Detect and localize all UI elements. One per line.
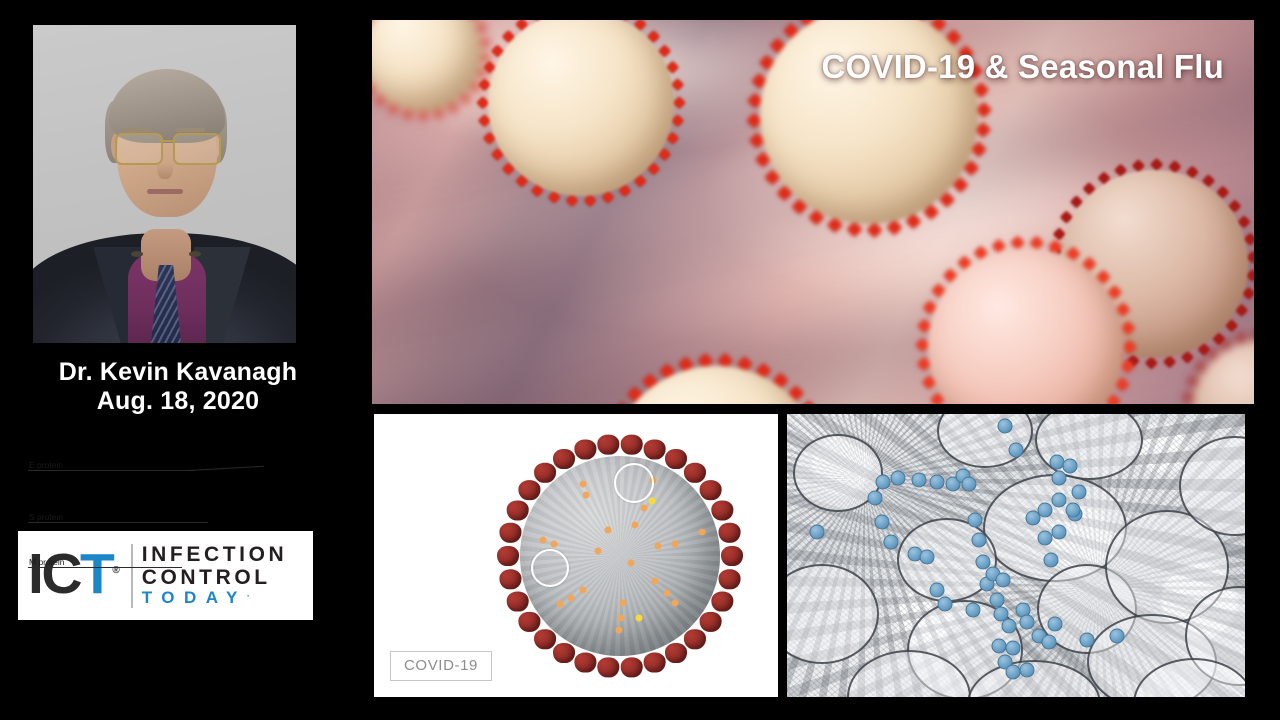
virion-particle xyxy=(1038,531,1053,546)
m-protein-marker xyxy=(539,536,546,543)
e-protein-marker xyxy=(649,498,656,505)
portrait-eyebrow-right xyxy=(175,128,205,132)
virion-particle xyxy=(875,515,890,530)
speaker-date: Aug. 18, 2020 xyxy=(0,387,356,416)
covid-structure-diagram-panel: COVID-19 xyxy=(374,414,778,697)
virion-particle xyxy=(1038,503,1053,518)
portrait-mouth xyxy=(147,189,183,194)
portrait-eye-right xyxy=(189,251,201,257)
m-protein-marker xyxy=(654,543,661,550)
virion-particle xyxy=(1066,503,1081,518)
m-protein-marker xyxy=(663,589,670,596)
virion-particle xyxy=(930,475,945,490)
m-protein-marker xyxy=(618,615,625,622)
portrait-eyeglasses xyxy=(113,133,221,163)
m-protein-marker xyxy=(604,526,611,533)
logo-text-today: TODAY. xyxy=(142,589,288,607)
virus-particle xyxy=(608,366,824,404)
virion-particle xyxy=(1020,663,1035,678)
logo-divider xyxy=(131,544,133,608)
logo-text-control: CONTROL xyxy=(142,567,288,589)
callout-circle-m-protein xyxy=(531,549,569,587)
logo-today-mark: . xyxy=(247,589,250,599)
slide-title: COVID-19 & Seasonal Flu xyxy=(821,48,1224,86)
e-protein-marker xyxy=(636,615,643,622)
logo-wordmark-stack: INFECTION CONTROL TODAY. xyxy=(142,544,288,607)
diagram-caption: COVID-19 xyxy=(390,651,492,681)
virion-particle xyxy=(996,573,1011,588)
m-protein-marker xyxy=(557,600,564,607)
virion-particle xyxy=(1048,617,1063,632)
m-protein-marker xyxy=(698,529,705,536)
virion-particle xyxy=(972,533,987,548)
virion-particle xyxy=(868,491,883,506)
virion-particle xyxy=(930,583,945,598)
leader-line-m xyxy=(86,567,182,568)
virion-particle xyxy=(938,597,953,612)
virion-particle xyxy=(1020,615,1035,630)
virion-particle xyxy=(1052,525,1067,540)
m-protein-marker xyxy=(579,481,586,488)
virion-particle xyxy=(962,477,977,492)
label-underline-s xyxy=(28,522,84,523)
virion-particle xyxy=(992,639,1007,654)
virion-particle xyxy=(884,535,899,550)
virion-particle xyxy=(912,473,927,488)
speaker-name: Dr. Kevin Kavanagh xyxy=(0,358,356,387)
eyeglass-lens-right xyxy=(173,133,221,165)
hero-virus-image: COVID-19 & Seasonal Flu xyxy=(372,20,1254,404)
virion-particle xyxy=(966,603,981,618)
virus-particle xyxy=(372,20,482,112)
slide-canvas: Dr. Kevin Kavanagh Aug. 18, 2020 ICT® IN… xyxy=(0,0,1280,720)
logo-text-infection: INFECTION xyxy=(142,544,288,566)
virion-particle xyxy=(1080,633,1095,648)
leader-line-e xyxy=(84,470,194,471)
m-protein-marker xyxy=(616,627,623,634)
virus-particle xyxy=(488,20,674,196)
m-protein-marker xyxy=(595,547,602,554)
callout-circle-e-protein xyxy=(614,463,654,503)
sars-cov-2-illustration xyxy=(484,420,756,692)
left-column: Dr. Kevin Kavanagh Aug. 18, 2020 ICT® IN… xyxy=(0,0,356,720)
virion-particle xyxy=(920,550,935,565)
ict-logo: ICT® INFECTION CONTROL TODAY. xyxy=(18,531,313,620)
m-protein-marker xyxy=(627,560,634,567)
virion-particle xyxy=(1002,619,1017,634)
logo-text-t: T xyxy=(80,542,112,606)
virion-particle xyxy=(1006,641,1021,656)
m-protein-marker xyxy=(550,541,557,548)
eyeglass-bridge xyxy=(159,140,175,142)
virion-particle xyxy=(810,525,825,540)
label-underline-e xyxy=(28,470,84,471)
virion-particle xyxy=(1052,493,1067,508)
m-protein-marker xyxy=(672,540,679,547)
label-e-protein: E protein xyxy=(29,460,63,470)
m-protein-marker xyxy=(651,578,658,585)
virion-particle xyxy=(1006,665,1021,680)
label-underline-m xyxy=(28,567,86,568)
virion-particle xyxy=(891,471,906,486)
virion-particle xyxy=(1072,485,1087,500)
portrait-eyebrow-left xyxy=(121,128,151,132)
virion-particle xyxy=(1110,629,1125,644)
label-m-protein: M protein xyxy=(29,557,64,567)
portrait-eye-left xyxy=(131,251,143,257)
virion-particle xyxy=(1042,635,1057,650)
logo-wordmark-ict: ICT® xyxy=(28,546,120,603)
virion-particle xyxy=(998,419,1013,434)
electron-micrograph-panel xyxy=(787,414,1245,697)
logo-today-word: TODAY xyxy=(142,588,247,607)
virion-particle xyxy=(990,593,1005,608)
virion-particle xyxy=(1063,459,1078,474)
virus-particle xyxy=(1192,340,1254,404)
m-protein-marker xyxy=(579,586,586,593)
label-s-protein: S protein xyxy=(29,512,63,522)
virion-particle xyxy=(1044,553,1059,568)
virus-particle xyxy=(928,248,1124,404)
virion-particle xyxy=(968,513,983,528)
m-protein-marker xyxy=(567,595,574,602)
eyeglass-lens-left xyxy=(115,133,163,165)
m-protein-marker xyxy=(582,492,589,499)
m-protein-marker xyxy=(619,599,626,606)
m-protein-marker xyxy=(641,505,648,512)
leader-line-s xyxy=(84,522,208,523)
virion-particle xyxy=(1052,471,1067,486)
m-protein-marker xyxy=(631,521,638,528)
m-protein-marker xyxy=(672,599,679,606)
virion-particle xyxy=(1009,443,1024,458)
virion-particle xyxy=(876,475,891,490)
speaker-caption: Dr. Kevin Kavanagh Aug. 18, 2020 xyxy=(0,358,356,416)
speaker-portrait-photo xyxy=(33,25,296,343)
logo-text-ic: IC xyxy=(28,542,80,606)
